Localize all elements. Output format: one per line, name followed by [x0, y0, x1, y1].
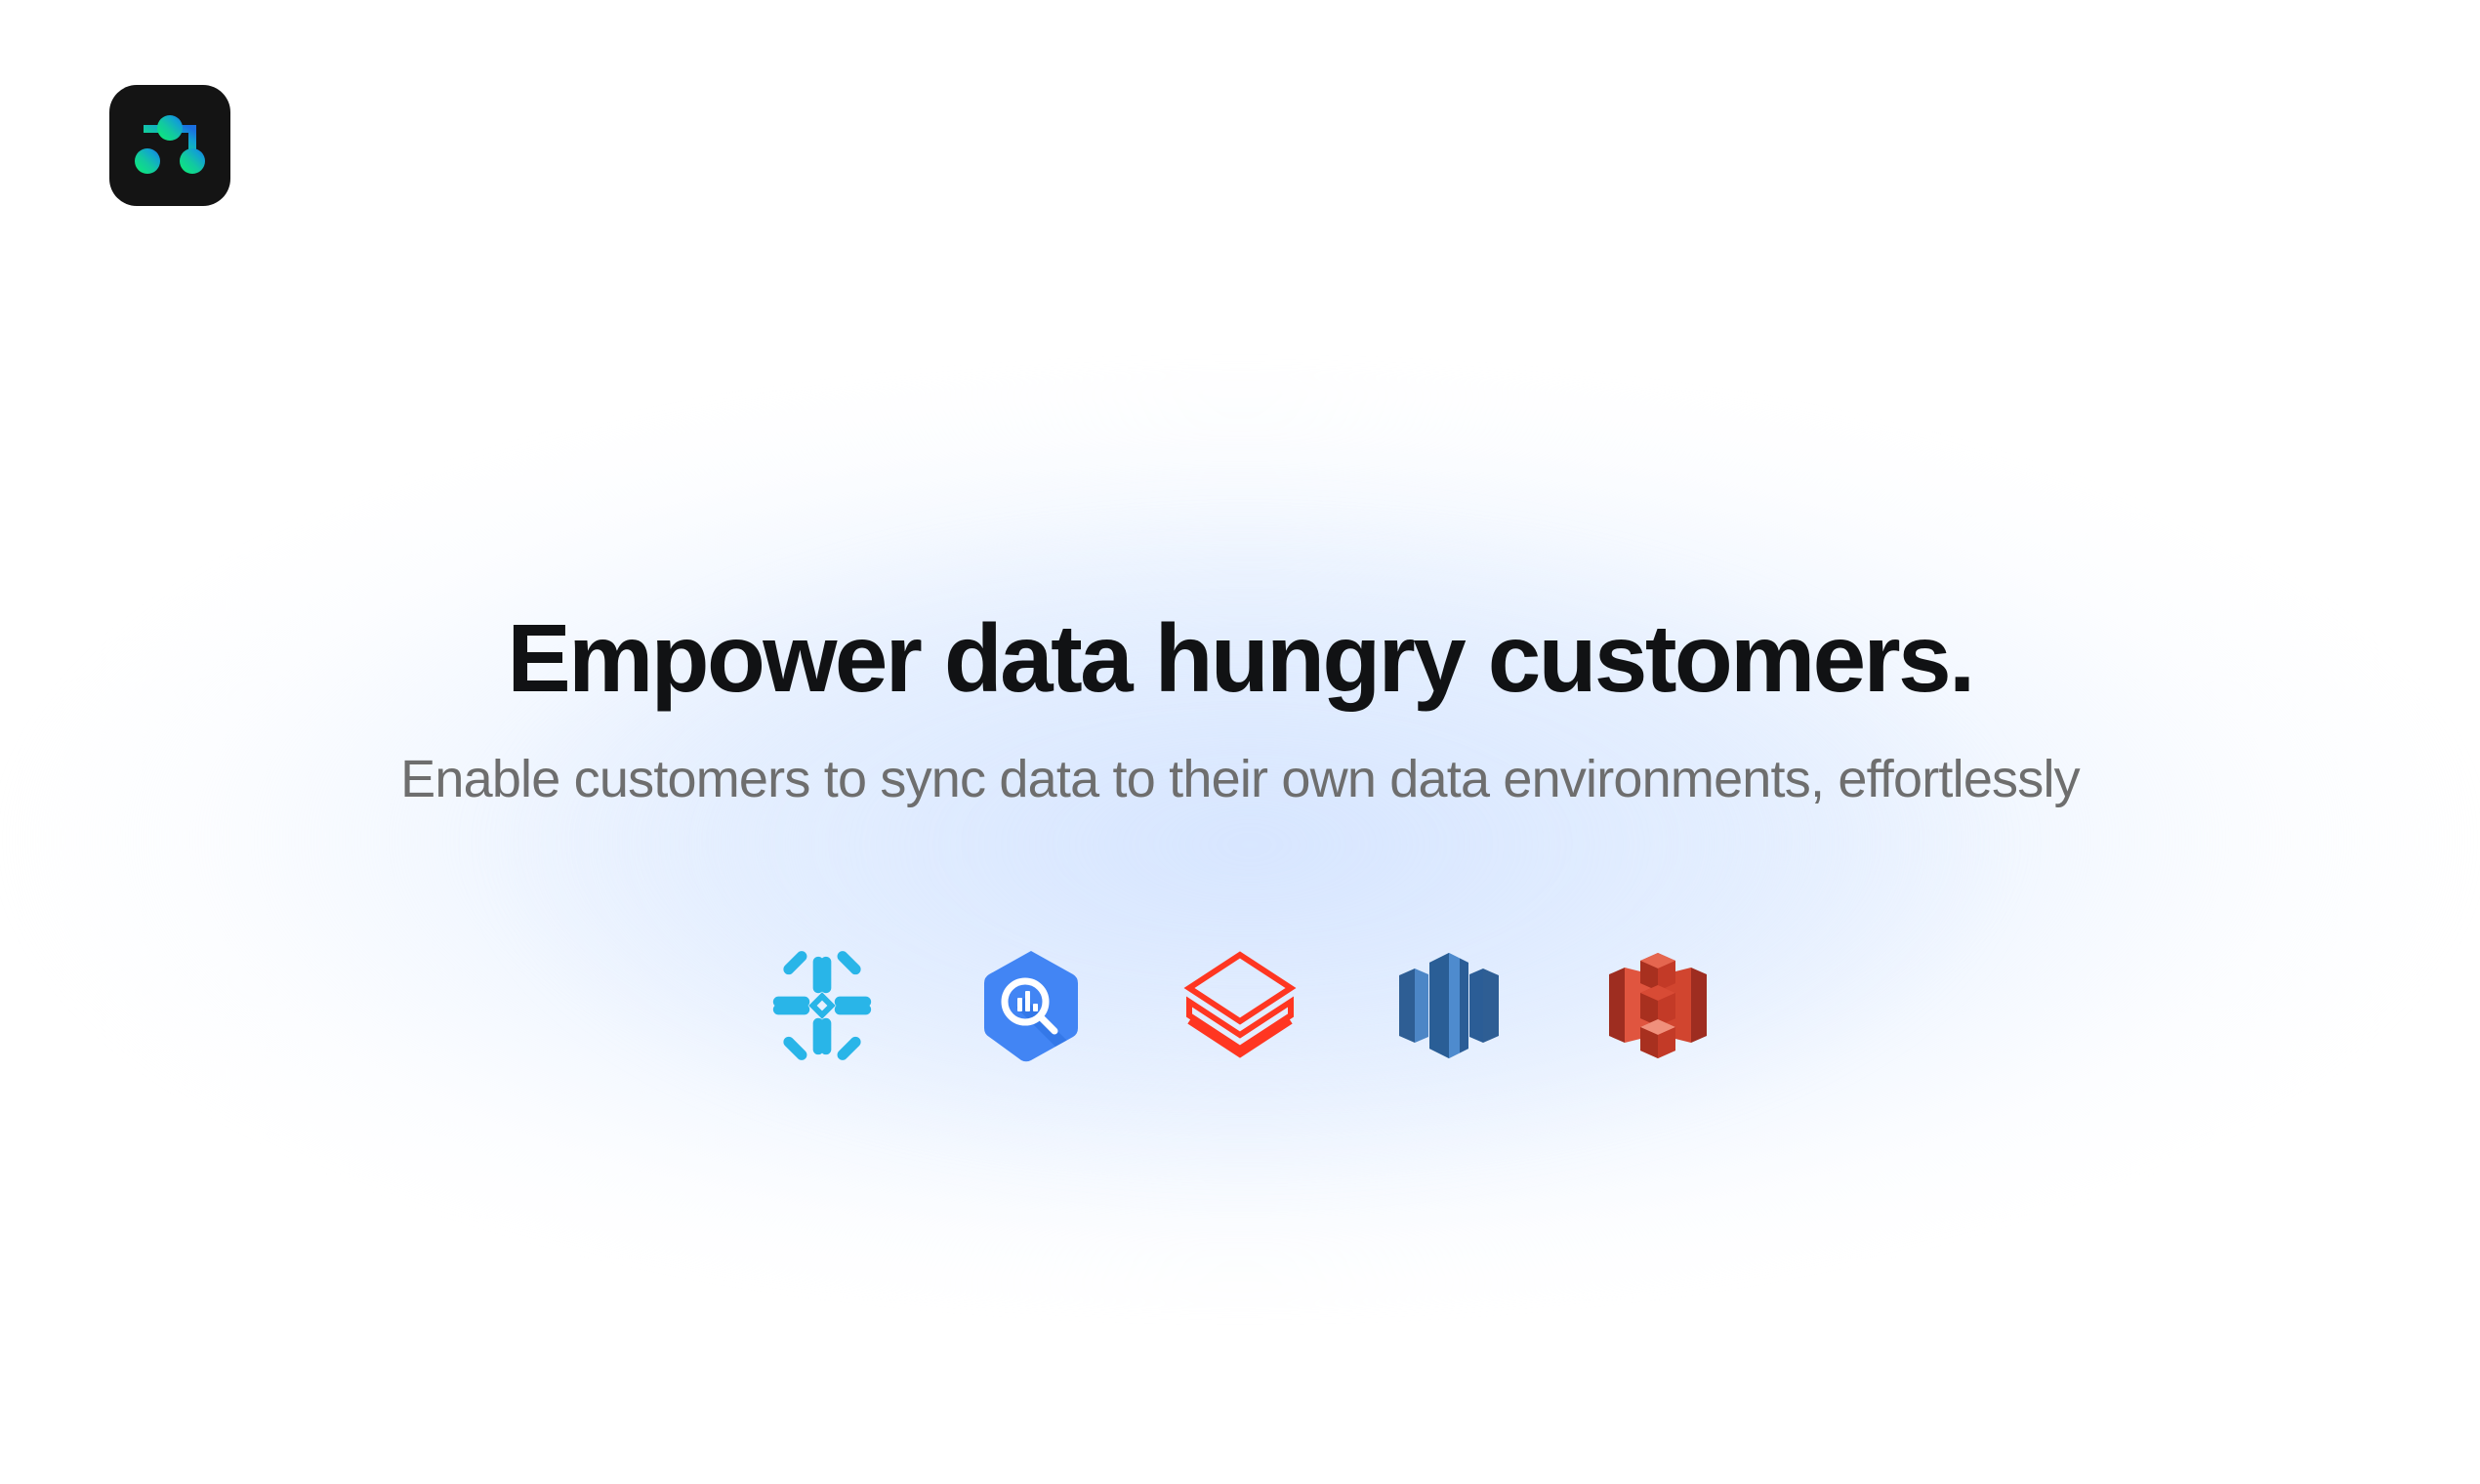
destination-logo-databricks[interactable] [1179, 937, 1301, 1074]
branching-nodes-logo-icon [132, 107, 208, 184]
background-glow [0, 371, 2480, 1308]
hero-page: Empower data hungry customers. Enable cu… [0, 0, 2480, 1484]
brand-logo[interactable] [109, 85, 230, 206]
destination-logo-bigquery[interactable] [971, 937, 1092, 1074]
redshift-icon [1395, 946, 1503, 1065]
databricks-icon [1183, 947, 1297, 1064]
bigquery-icon [977, 947, 1085, 1064]
page-subtitle: Enable customers to sync data to their o… [0, 747, 2480, 811]
destination-logo-strip [0, 937, 2480, 1074]
destination-logo-snowflake[interactable] [762, 937, 883, 1074]
snowflake-icon [765, 948, 880, 1063]
page-title: Empower data hungry customers. [0, 601, 2480, 715]
amazon-s3-icon [1605, 946, 1711, 1065]
background-glow-inner [293, 459, 2207, 1201]
destination-logo-redshift[interactable] [1388, 937, 1509, 1074]
destination-logo-amazon-s3[interactable] [1597, 937, 1718, 1074]
